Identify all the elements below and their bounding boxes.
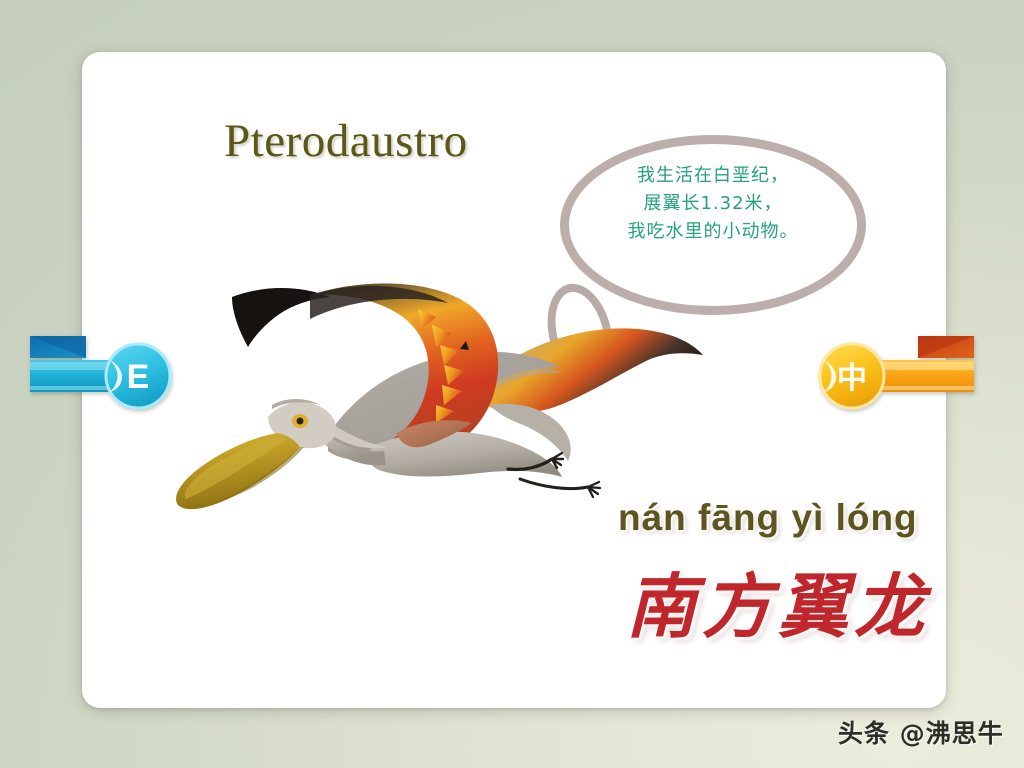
pterodaustro-illustration: [160, 255, 720, 525]
language-ribbon-chinese[interactable]: 中: [808, 330, 976, 416]
hanzi-label: 南方翼龙: [626, 551, 930, 652]
pupil: [297, 418, 304, 425]
watermark: 头条 @沸思牛: [838, 714, 1004, 750]
language-ribbon-english[interactable]: E: [28, 330, 178, 416]
badge-label-chinese: 中: [837, 361, 867, 396]
pinyin-label: nán fāng yì lóng: [618, 497, 918, 539]
badge-label-english: E: [127, 358, 150, 396]
slide-stage: Pterodaustro 我生活在白垩纪， 展翼长1.32米， 我吃水里的小动物…: [0, 0, 1024, 768]
speech-bubble-text: 我生活在白垩纪， 展翼长1.32米， 我吃水里的小动物。: [562, 162, 864, 246]
page-title: Pterodaustro: [224, 114, 468, 168]
beak: [176, 433, 300, 509]
body: [368, 431, 562, 477]
